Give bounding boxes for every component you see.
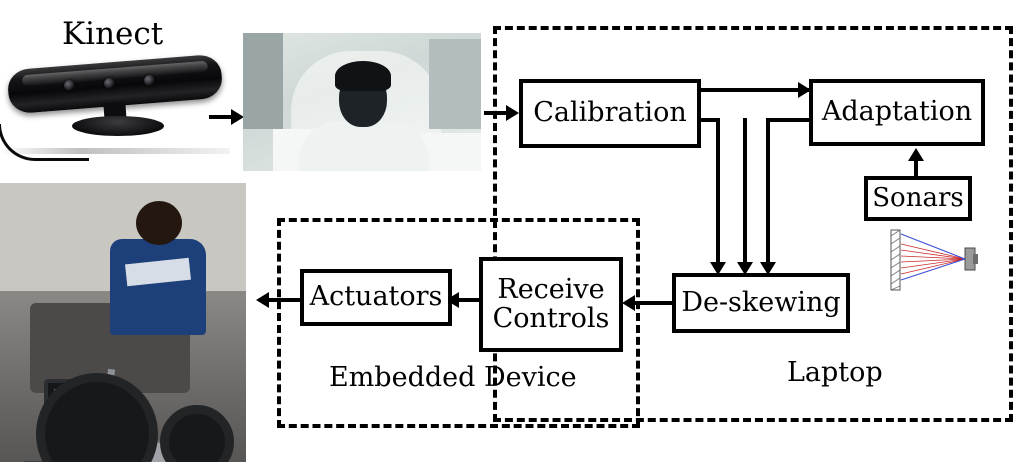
laptop-region-label: Laptop (787, 357, 883, 388)
link-deskewing-to-receive-head (622, 295, 635, 311)
block-sonars[interactable]: Sonars (864, 176, 972, 221)
depth-foreground-block (421, 133, 481, 171)
link-deskewing-to-receive-line (634, 301, 676, 305)
block-deskewing-label: De-skewing (681, 289, 840, 317)
block-adaptation-label: Adaptation (822, 98, 972, 126)
link-calibration-to-deskewing-line (716, 118, 720, 268)
depth-person-body-shape (299, 121, 429, 171)
link-sonars-to-adaptation-head (908, 148, 924, 161)
link-calibration-to-deskewing-line-2 (743, 118, 747, 268)
block-adaptation[interactable]: Adaptation (809, 79, 985, 146)
embedded-device-region-label: Embedded Device (329, 362, 577, 393)
block-sonars-label: Sonars (872, 185, 963, 212)
diagram-canvas: Kinect (0, 0, 1023, 471)
depth-frame-image (243, 33, 481, 171)
kinect-lens-icon (144, 75, 155, 86)
block-calibration-label: Calibration (533, 99, 686, 127)
link-adaptation-branch-line (766, 118, 812, 122)
kinect-label: Kinect (62, 16, 163, 52)
depth-background-block (429, 39, 481, 129)
link-actuators-to-wheelchair-head (256, 292, 269, 308)
link-adaptation-to-deskewing-line (766, 118, 770, 268)
kinect-shadow-shape (0, 148, 230, 154)
block-receive-controls-label-line2: Controls (493, 305, 610, 333)
depth-person-hair-shape (335, 61, 391, 91)
block-receive-controls-label-line1: Receive (493, 276, 610, 304)
arrow-kinect-to-depth-line (209, 115, 233, 119)
link-actuators-to-wheelchair-line (268, 298, 300, 302)
block-receive-controls[interactable]: Receive Controls (479, 257, 623, 352)
kinect-lens-icon (64, 80, 75, 91)
link-calibration-to-adaptation-line (701, 88, 811, 92)
block-actuators[interactable]: Actuators (300, 269, 452, 326)
wheelchair-person-head-shape (136, 201, 182, 245)
sonar-beam-image (889, 228, 979, 292)
wheelchair-image (0, 183, 246, 462)
kinect-cable-shape (0, 124, 89, 161)
block-deskewing[interactable]: De-skewing (672, 273, 850, 333)
block-calibration[interactable]: Calibration (519, 79, 701, 148)
kinect-device-image (0, 52, 236, 152)
block-actuators-label: Actuators (310, 283, 443, 311)
link-calibration-branch-line (700, 118, 720, 122)
wheelchair-person-torso-shape (110, 239, 206, 335)
kinect-lens-icon (104, 78, 115, 89)
depth-background-block (243, 33, 283, 129)
